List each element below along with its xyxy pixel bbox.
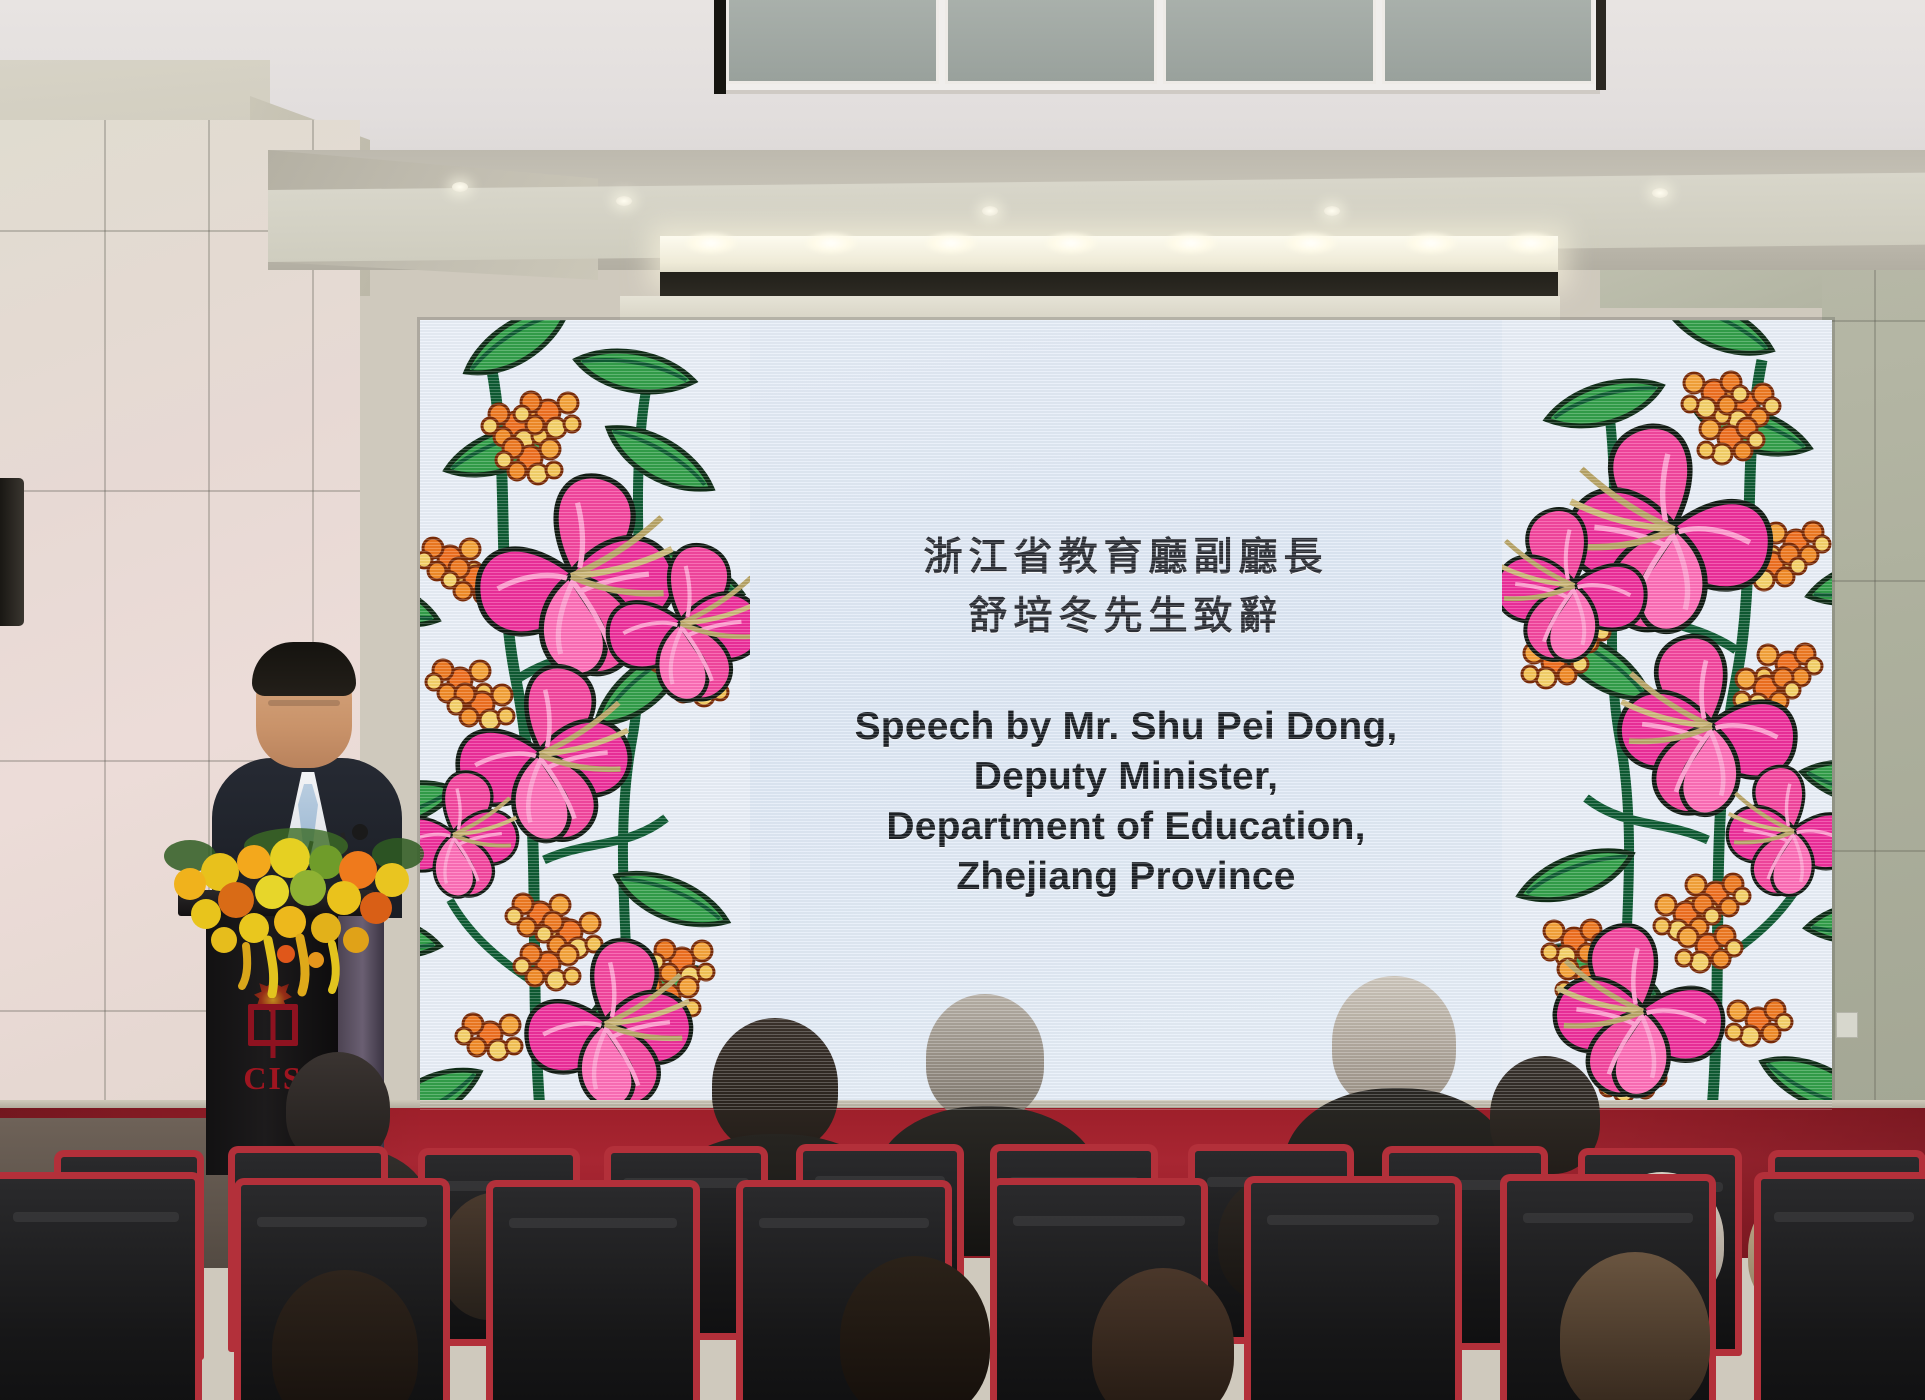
open-book-icon	[248, 1004, 298, 1046]
audience-head	[712, 1018, 838, 1152]
vent-panel	[726, 0, 939, 84]
ceiling-downlight	[982, 206, 998, 216]
slide-english-line-1: Speech by Mr. Shu Pei Dong,	[855, 702, 1398, 752]
wall-speaker	[0, 478, 24, 626]
slide-chinese-block: 浙江省教育廳副廳長 舒培冬先生致辭	[923, 528, 1328, 647]
ceiling-downlight	[1324, 206, 1340, 216]
slide-english-line-2: Deputy Minister,	[855, 752, 1398, 802]
ceiling-downlight	[1652, 188, 1668, 198]
speaker-face-shadow	[268, 700, 340, 706]
audience-chair	[1754, 1172, 1925, 1400]
scene-root: 浙江省教育廳副廳長 舒培冬先生致辭 Speech by Mr. Shu Pei …	[0, 0, 1925, 1400]
ceiling-edge-shadow	[714, 0, 726, 94]
audience-seating	[0, 1060, 1925, 1400]
vent-panel	[945, 0, 1158, 84]
floral-border-right	[1502, 320, 1832, 1110]
wall-outlet-plate	[1836, 1012, 1858, 1038]
vent-panel	[1382, 0, 1595, 84]
slide-english-block: Speech by Mr. Shu Pei Dong, Deputy Minis…	[855, 702, 1398, 902]
audience-chair	[486, 1180, 700, 1400]
slide-chinese-line-2: 舒培冬先生致辭	[923, 587, 1328, 646]
ceiling-downlight	[616, 196, 632, 206]
audience-chair	[0, 1172, 202, 1400]
slide-chinese-line-1: 浙江省教育廳副廳長	[923, 528, 1328, 587]
slide-english-line-3: Department of Education,	[855, 802, 1398, 852]
cis-crest-icon	[242, 990, 304, 1056]
podium-flower-arrangement	[150, 828, 440, 998]
led-presentation-screen[interactable]: 浙江省教育廳副廳長 舒培冬先生致辭 Speech by Mr. Shu Pei …	[420, 320, 1832, 1110]
audience-head	[840, 1256, 990, 1400]
speaker-hair	[252, 642, 356, 696]
ceiling-downlight	[452, 182, 468, 192]
slide-english-line-4: Zhejiang Province	[855, 852, 1398, 902]
vent-panel	[1163, 0, 1376, 84]
floral-border-left	[420, 320, 750, 1110]
pelmet-shadow-band	[660, 272, 1558, 298]
ceiling-edge-shadow-right	[1596, 0, 1606, 90]
audience-head	[926, 994, 1044, 1120]
wall-right	[1822, 150, 1925, 1110]
audience-chair	[1244, 1176, 1462, 1400]
ceiling-vent-grid	[726, 0, 1594, 84]
